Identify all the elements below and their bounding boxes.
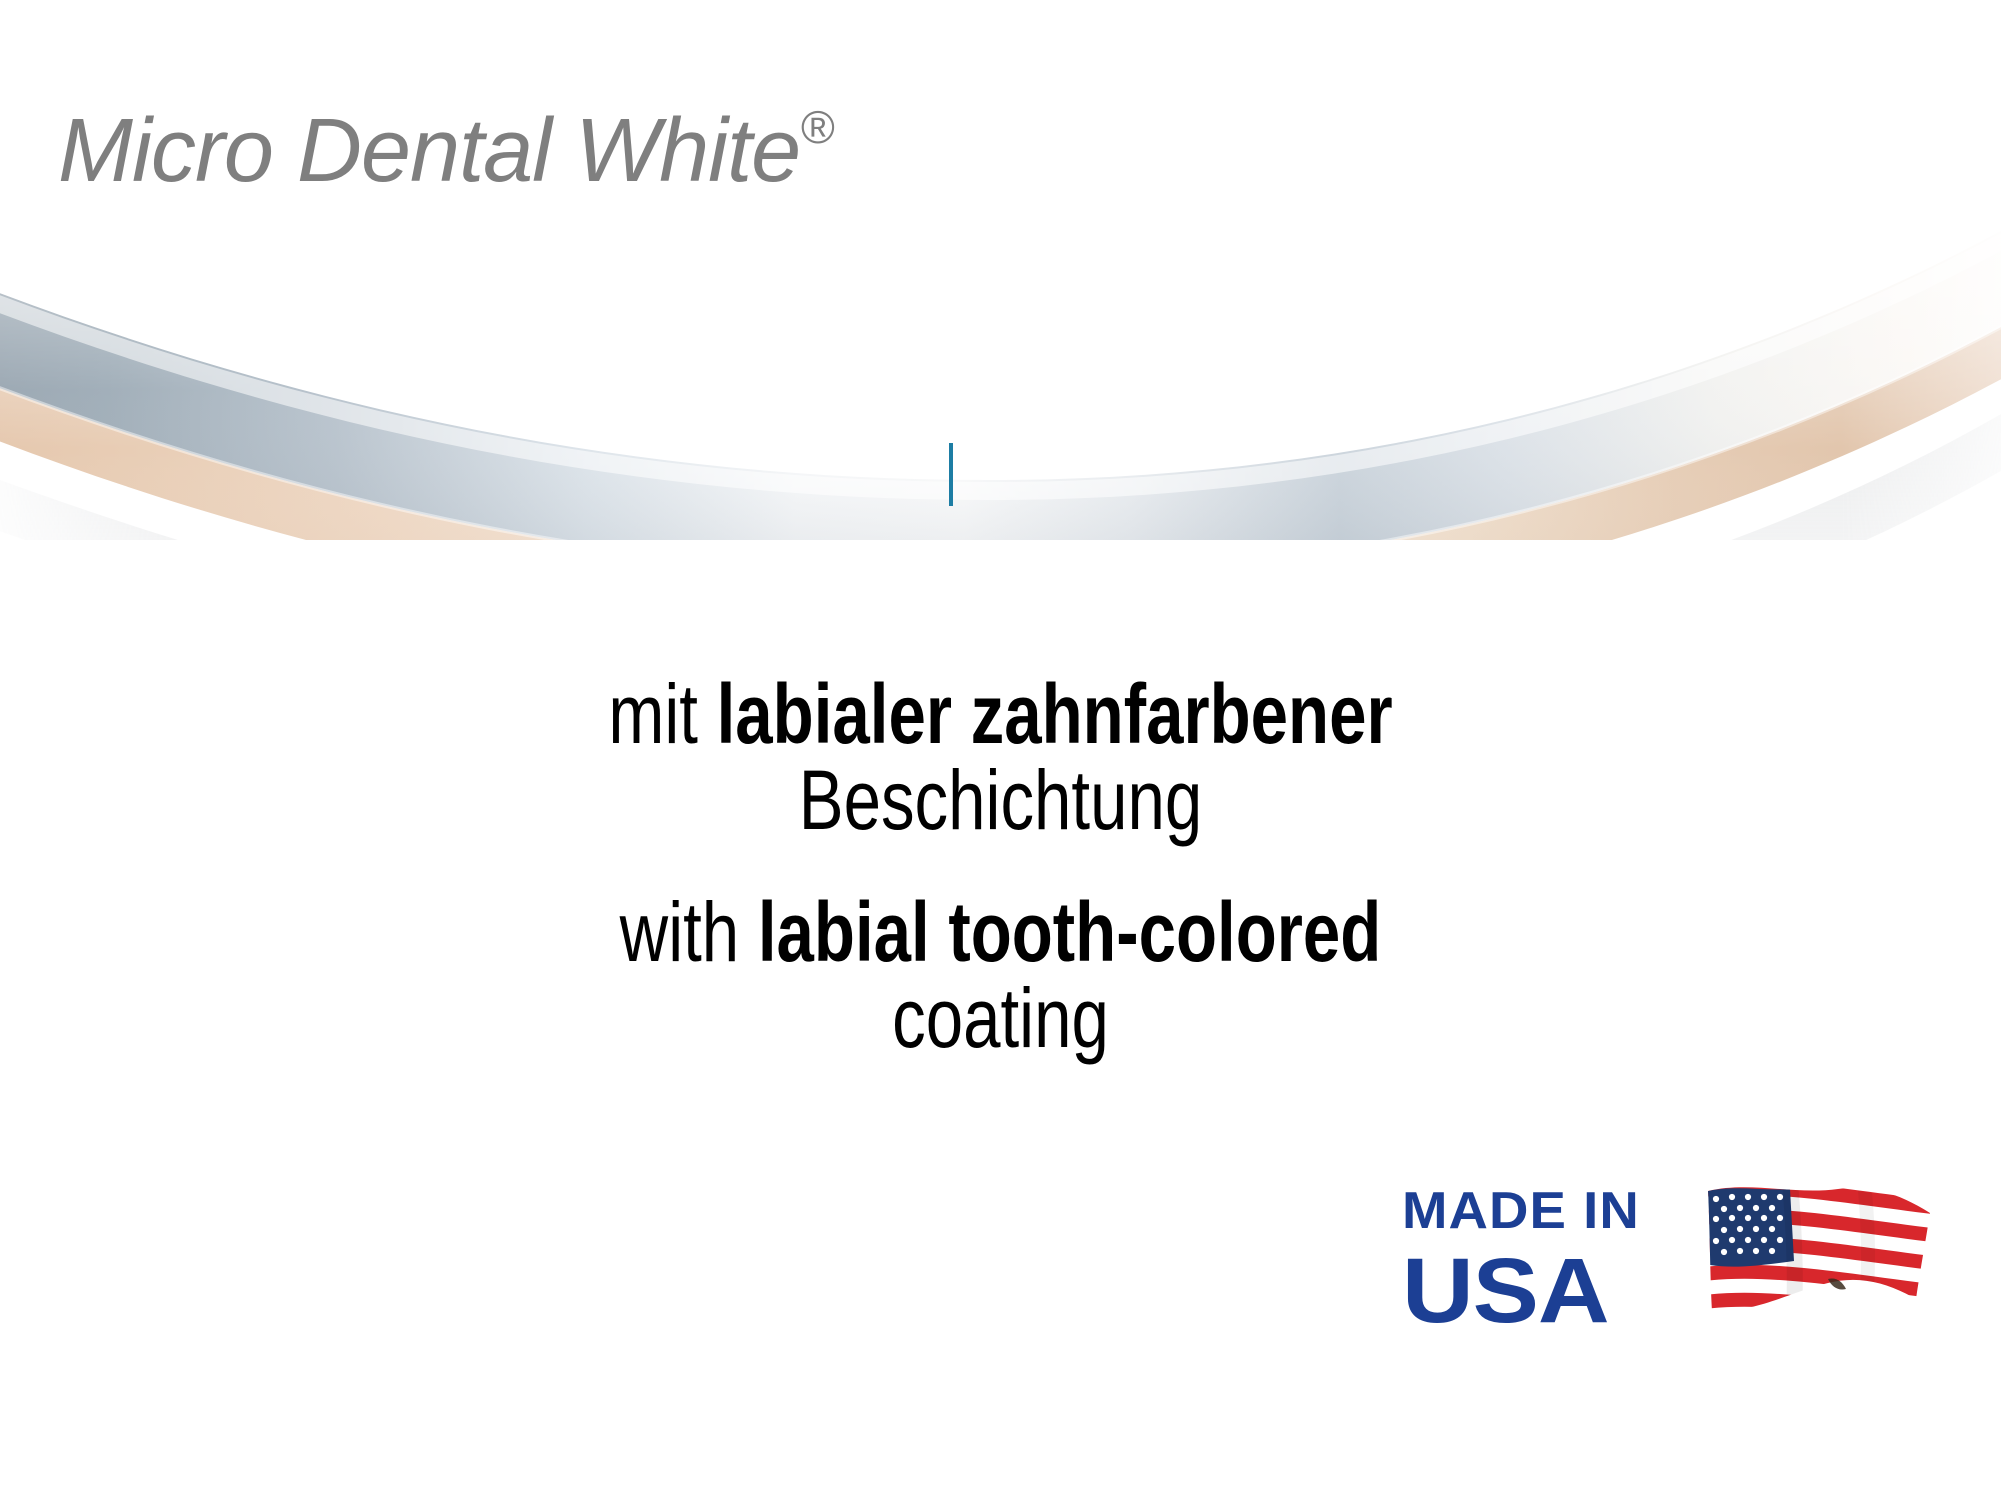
caption-english: with labial tooth-colored coating [0,890,2001,1061]
caption-english-line-1-normal: with [620,885,758,979]
archwire-product-image [0,180,2001,540]
slide-canvas: Micro Dental White® [0,0,2001,1493]
caption-german-line-1-bold: labialer zahnfarbener [717,667,1393,761]
made-in-label: MADE IN [1402,1185,1691,1237]
usa-label: USA [1402,1245,1699,1337]
caption-german-line-1-normal: mit [608,667,716,761]
caption-german-line-1: mit labialer zahnfarbener [200,672,1801,758]
coating-leader-line [949,443,953,506]
caption-english-line-1: with labial tooth-colored [200,890,1801,976]
made-in-usa-wordmark: MADE IN USA [1402,1185,1677,1337]
caption-german: mit labialer zahnfarbener Beschichtung [0,672,2001,843]
registered-trademark-icon: ® [800,101,834,153]
made-in-usa-badge: MADE IN USA [1402,1185,1947,1355]
caption-english-line-2: coating [200,976,1801,1062]
us-flag-icon [1690,1179,1940,1339]
caption-english-line-1-bold: labial tooth-colored [758,885,1381,979]
caption-german-line-2: Beschichtung [200,758,1801,844]
